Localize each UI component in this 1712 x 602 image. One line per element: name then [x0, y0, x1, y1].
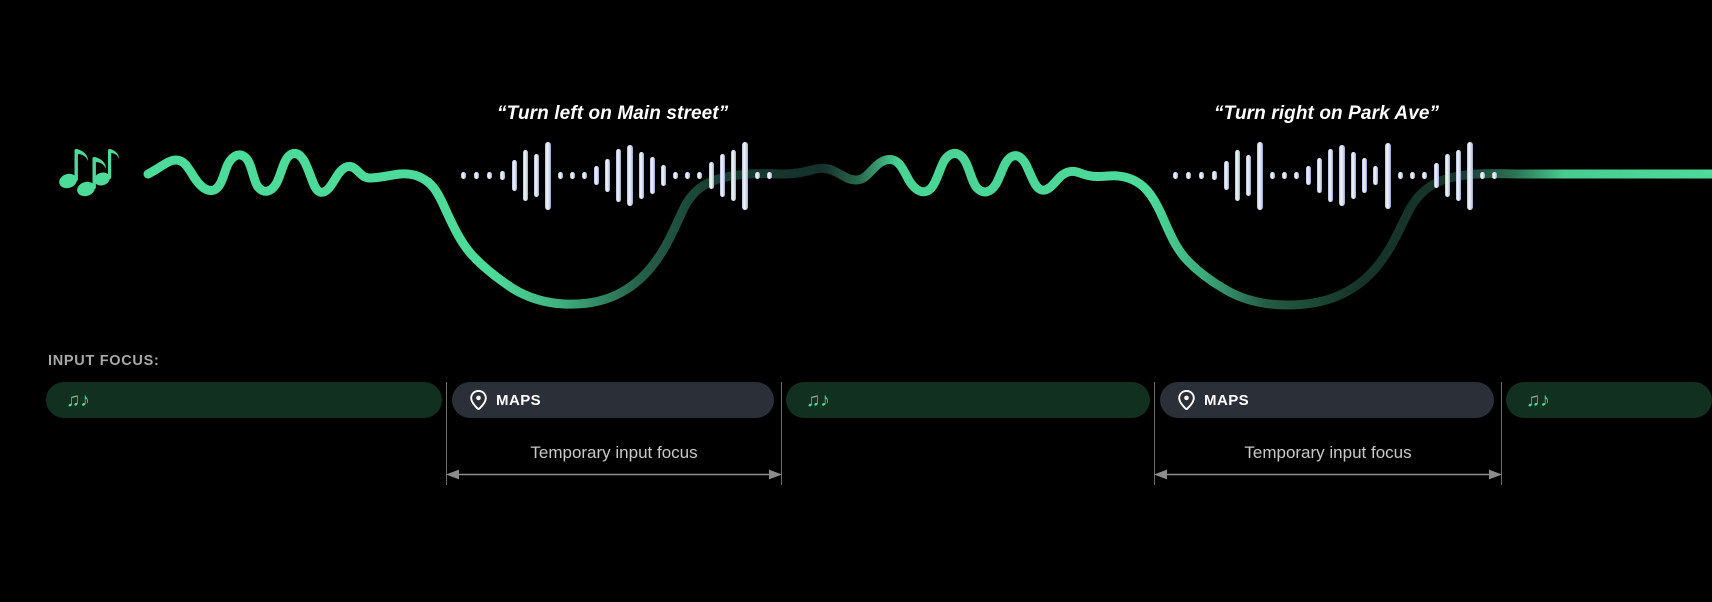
waveform-region [0, 0, 1712, 330]
temporary-focus-arrow-2 [1154, 469, 1502, 480]
track-segment-label: MAPS [1204, 392, 1249, 409]
music-stream-path [148, 153, 1712, 305]
music-notes-icon [55, 143, 119, 203]
music-notes-icon: ♫♪ [806, 391, 830, 410]
temporary-focus-annotation-2: Temporary input focus [1154, 443, 1502, 463]
track-segment-maps-2[interactable]: MAPS [1160, 382, 1494, 418]
track-segment-maps-1[interactable]: MAPS [452, 382, 774, 418]
input-focus-label: INPUT FOCUS: [48, 353, 160, 369]
temporary-focus-arrow-1 [446, 469, 782, 480]
track-segment-music-1[interactable]: ♫♪ [46, 382, 442, 418]
track-segment-music-3[interactable]: ♫♪ [1506, 382, 1712, 418]
waveform-svg [0, 0, 1712, 330]
track-segment-music-2[interactable]: ♫♪ [786, 382, 1150, 418]
music-notes-icon: ♫♪ [1526, 391, 1550, 410]
map-pin-icon [1178, 390, 1195, 410]
temporary-focus-annotation-1: Temporary input focus [446, 443, 782, 463]
track-segment-label: MAPS [496, 392, 541, 409]
audio-ducking-diagram: “Turn left on Main street” “Turn right o… [0, 0, 1712, 602]
voice-waveform-bars-second [1173, 142, 1497, 210]
music-notes-icon: ♫♪ [66, 391, 90, 410]
map-pin-icon [470, 390, 487, 410]
